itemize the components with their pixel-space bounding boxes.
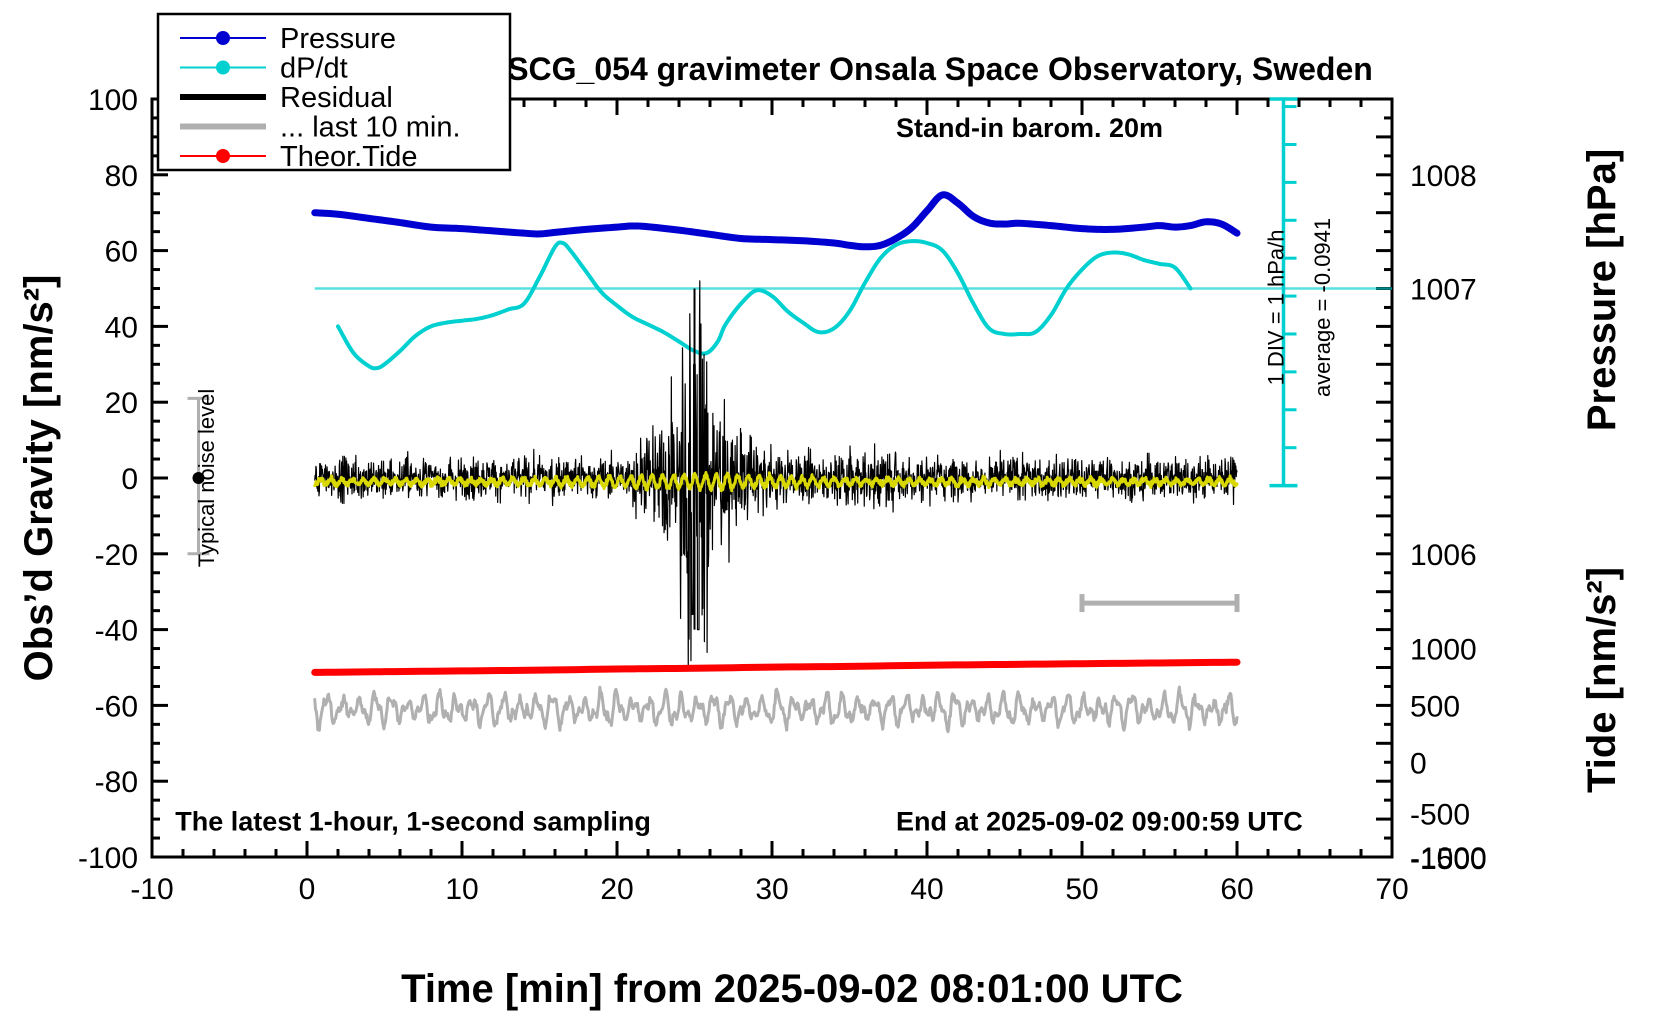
legend-label: Pressure (280, 23, 396, 55)
x-tick-label: 0 (299, 873, 316, 906)
y-tick-label: 40 (105, 311, 138, 344)
series-pressure (315, 195, 1237, 247)
annotation-stand-in-barom: Stand-in barom. 20m (896, 113, 1163, 143)
pressure-axis-title: Pressure [hPa] (1580, 149, 1624, 431)
tide-axis-title: Tide [nm/s²] (1580, 567, 1624, 793)
y-tick-label: 80 (105, 160, 138, 193)
y-tick-label: -20 (95, 539, 138, 572)
plot-data (315, 195, 1392, 732)
chart-title: SCG_054 gravimeter Onsala Space Observat… (507, 51, 1373, 87)
legend-marker-dot (216, 61, 230, 75)
y-tick-label: 60 (105, 236, 138, 269)
legend-label: Residual (280, 82, 393, 114)
x-tick-label: -10 (130, 873, 173, 906)
legend-label: ... last 10 min. (280, 112, 461, 144)
y-tick-label: -40 (95, 615, 138, 648)
chart-page: -10010203040506070Time [min] from 2025-0… (0, 0, 1660, 1020)
annotation-average: average = -0.0941 (1310, 218, 1335, 397)
y-tick-label: 0 (121, 463, 138, 496)
y-axis-left: -100-80-60-40-20020406080100 (78, 84, 168, 875)
tide-tick-label: -1500 (1410, 843, 1487, 876)
x-tick-label: 60 (1220, 873, 1253, 906)
annotation-noise-level: Typical noise level (194, 389, 219, 568)
tide-tick-label: -500 (1410, 798, 1470, 831)
x-tick-label: 30 (755, 873, 788, 906)
x-tick-label: 40 (910, 873, 943, 906)
y-tick-label: -60 (95, 690, 138, 723)
tide-tick-label: 1000 (1410, 634, 1477, 667)
series-theor-tide (315, 662, 1237, 672)
annotation-div-scale: 1 DIV = 1 hPa/h (1264, 229, 1289, 385)
y-tick-label: -100 (78, 842, 138, 875)
x-tick-label: 20 (600, 873, 633, 906)
gravimeter-chart: -10010203040506070Time [min] from 2025-0… (0, 0, 1660, 1020)
legend-marker-dot (216, 149, 230, 163)
x-axis-title: Time [min] from 2025-09-02 08:01:00 UTC (401, 967, 1183, 1011)
pressure-tick-label: 1006 (1410, 539, 1477, 572)
x-tick-label: 70 (1375, 873, 1408, 906)
legend-marker-dot (216, 31, 230, 45)
y-tick-label: 20 (105, 387, 138, 420)
legend: PressuredP/dtResidual... last 10 min.The… (158, 14, 510, 173)
annotation-footer-left: The latest 1-hour, 1-second sampling (175, 806, 651, 836)
series-residual (315, 281, 1237, 671)
series-last-10-min (315, 687, 1237, 732)
x-tick-label: 50 (1065, 873, 1098, 906)
last-10-min-span-bar (1082, 594, 1237, 612)
x-tick-label: 10 (445, 873, 478, 906)
y-axis-title: Obs’d Gravity [nm/s²] (17, 275, 61, 682)
legend-label: Theor.Tide (280, 141, 418, 173)
pressure-tick-label: 1007 (1410, 274, 1477, 307)
annotation-footer-right: End at 2025-09-02 09:00:59 UTC (896, 806, 1303, 836)
tide-tick-label: 500 (1410, 690, 1460, 723)
series-dpdt (338, 241, 1191, 368)
tide-tick-label: 0 (1410, 747, 1427, 780)
y-tick-label: -80 (95, 766, 138, 799)
y-tick-label: 100 (88, 84, 138, 117)
legend-label: dP/dt (280, 53, 348, 85)
pressure-tick-label: 1008 (1410, 160, 1477, 193)
